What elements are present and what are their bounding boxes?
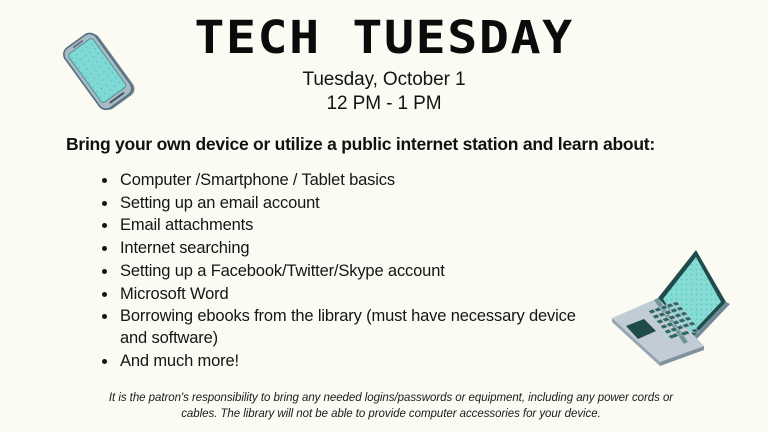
bullet-dot-icon	[102, 201, 107, 206]
laptop-illustration	[604, 242, 732, 368]
list-item: Setting up a Facebook/Twitter/Skype acco…	[120, 261, 590, 283]
page-title: TECH TUESDAY	[0, 14, 768, 62]
list-item-label: Internet searching	[120, 239, 249, 257]
bullet-dot-icon	[102, 269, 107, 274]
bullet-dot-icon	[102, 223, 107, 228]
footer-disclaimer: It is the patron's responsibility to bri…	[96, 390, 686, 422]
event-date: Tuesday, October 1	[0, 68, 768, 92]
list-item-label: Setting up an email account	[120, 194, 320, 212]
list-item: Setting up an email account	[120, 193, 590, 215]
bullet-dot-icon	[102, 359, 107, 364]
bullet-dot-icon	[102, 178, 107, 183]
bullet-dot-icon	[102, 292, 107, 297]
topics-list: Computer /Smartphone / Tablet basics Set…	[100, 170, 590, 373]
lead-text: Bring your own device or utilize a publi…	[66, 133, 716, 155]
list-item: Internet searching	[120, 238, 590, 260]
list-item-label: And much more!	[120, 352, 239, 370]
event-time: 12 PM - 1 PM	[0, 92, 768, 116]
list-item: And much more!	[120, 351, 590, 373]
list-item-label: Email attachments	[120, 216, 253, 234]
list-item-label: Microsoft Word	[120, 285, 229, 303]
list-item-label: Borrowing ebooks from the library (must …	[120, 307, 576, 347]
list-item: Email attachments	[120, 215, 590, 237]
list-item-label: Computer /Smartphone / Tablet basics	[120, 171, 395, 189]
list-item: Microsoft Word	[120, 284, 590, 306]
bullet-dot-icon	[102, 314, 107, 319]
flyer-canvas: TECH TUESDAY Tuesday, October 1 12 PM - …	[0, 0, 768, 432]
list-item: Borrowing ebooks from the library (must …	[120, 306, 590, 349]
title-block: TECH TUESDAY Tuesday, October 1 12 PM - …	[0, 14, 768, 116]
list-item: Computer /Smartphone / Tablet basics	[120, 170, 590, 192]
list-item-label: Setting up a Facebook/Twitter/Skype acco…	[120, 262, 445, 280]
bullet-dot-icon	[102, 246, 107, 251]
